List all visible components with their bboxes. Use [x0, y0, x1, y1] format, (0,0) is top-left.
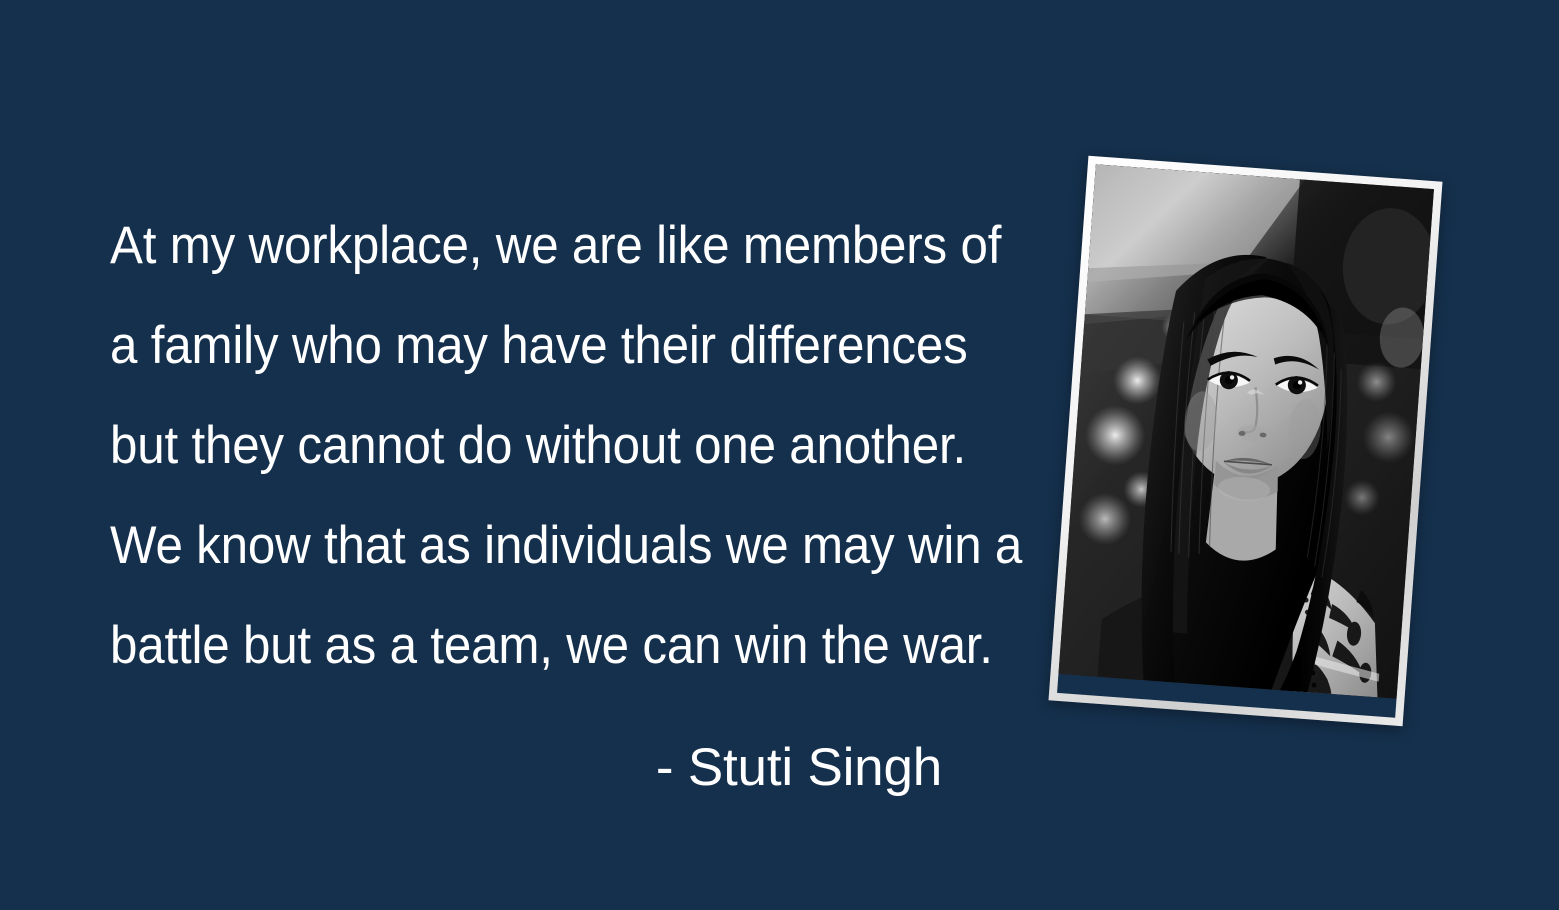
quote-block: At my workplace, we are like members of … — [110, 196, 942, 798]
testimonial-slide: At my workplace, we are like members of … — [0, 0, 1559, 910]
quote-line-5: battle but as a team, we can win the war… — [110, 596, 884, 696]
quote-line-2: a family who may have their differences — [110, 296, 884, 396]
portrait-photo — [1058, 164, 1434, 699]
portrait-photo-frame — [1048, 156, 1442, 727]
quote-line-1: At my workplace, we are like members of — [110, 196, 884, 296]
quote-attribution: - Stuti Singh — [110, 738, 942, 798]
portrait-photo-inner — [1057, 164, 1434, 717]
quote-line-4: We know that as individuals we may win a — [110, 496, 884, 596]
quote-line-3: but they cannot do without one another. — [110, 396, 884, 496]
